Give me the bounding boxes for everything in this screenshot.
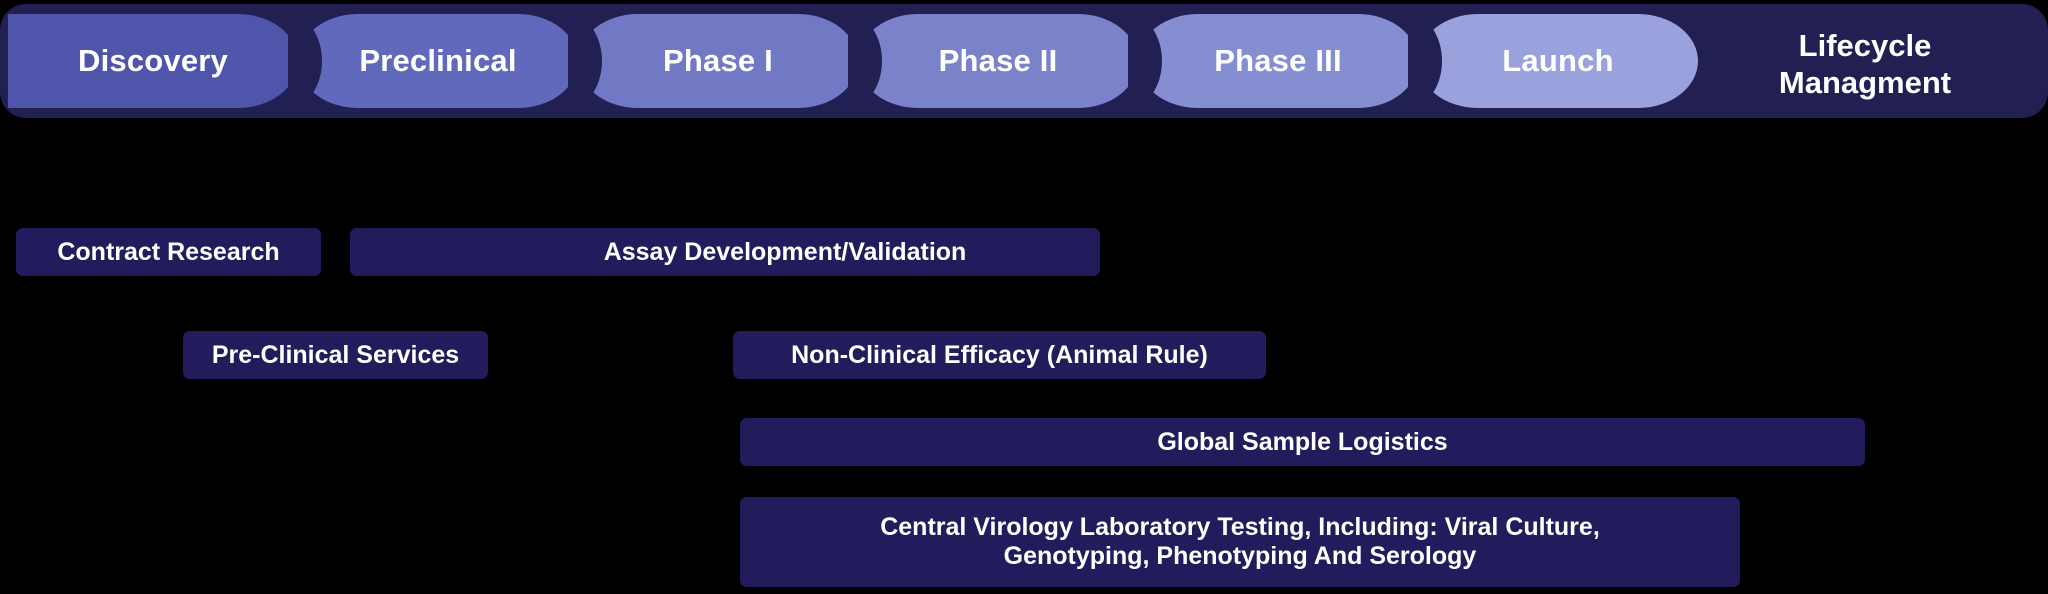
service-bar-label: Global Sample Logistics bbox=[1143, 428, 1461, 457]
phase-label: Phase II bbox=[939, 45, 1058, 78]
service-bar-global-sample-logistics[interactable]: Global Sample Logistics bbox=[740, 418, 1865, 466]
phase-label: Phase III bbox=[1214, 45, 1342, 78]
service-bar-label: Central Virology Laboratory Testing, Inc… bbox=[866, 513, 1614, 571]
service-bar-pre-clinical-services[interactable]: Pre-Clinical Services bbox=[183, 331, 488, 379]
phase-label: Phase I bbox=[663, 45, 773, 78]
phase-label: Discovery bbox=[78, 45, 228, 78]
service-bar-label: Pre-Clinical Services bbox=[198, 341, 473, 370]
phase-label: Preclinical bbox=[359, 45, 516, 78]
phase-label: Launch bbox=[1502, 45, 1613, 78]
lifecycle-management-label: Lifecycle Managment bbox=[1700, 28, 2030, 101]
phase-segment-phase-ii[interactable]: Phase II bbox=[858, 14, 1138, 108]
phase-segment-phase-iii[interactable]: Phase III bbox=[1138, 14, 1418, 108]
phase-segment-preclinical[interactable]: Preclinical bbox=[298, 14, 578, 108]
service-bar-assay-development[interactable]: Assay Development/Validation bbox=[350, 228, 1100, 276]
service-bar-label: Assay Development/Validation bbox=[410, 238, 1160, 267]
service-bar-central-virology-lab-testing[interactable]: Central Virology Laboratory Testing, Inc… bbox=[740, 497, 1740, 587]
service-bar-contract-research[interactable]: Contract Research bbox=[16, 228, 321, 276]
service-bar-label: Contract Research bbox=[43, 238, 293, 267]
phase-segment-launch[interactable]: Launch bbox=[1418, 14, 1698, 108]
phase-segment-discovery[interactable]: Discovery bbox=[8, 14, 298, 108]
service-bar-label: Non-Clinical Efficacy (Animal Rule) bbox=[777, 341, 1222, 370]
phase-banner: Discovery Preclinical Phase I Phase II bbox=[0, 4, 2048, 118]
service-bar-non-clinical-efficacy[interactable]: Non-Clinical Efficacy (Animal Rule) bbox=[733, 331, 1266, 379]
lifecycle-diagram: Discovery Preclinical Phase I Phase II bbox=[0, 0, 2048, 594]
phase-segment-phase-i[interactable]: Phase I bbox=[578, 14, 858, 108]
